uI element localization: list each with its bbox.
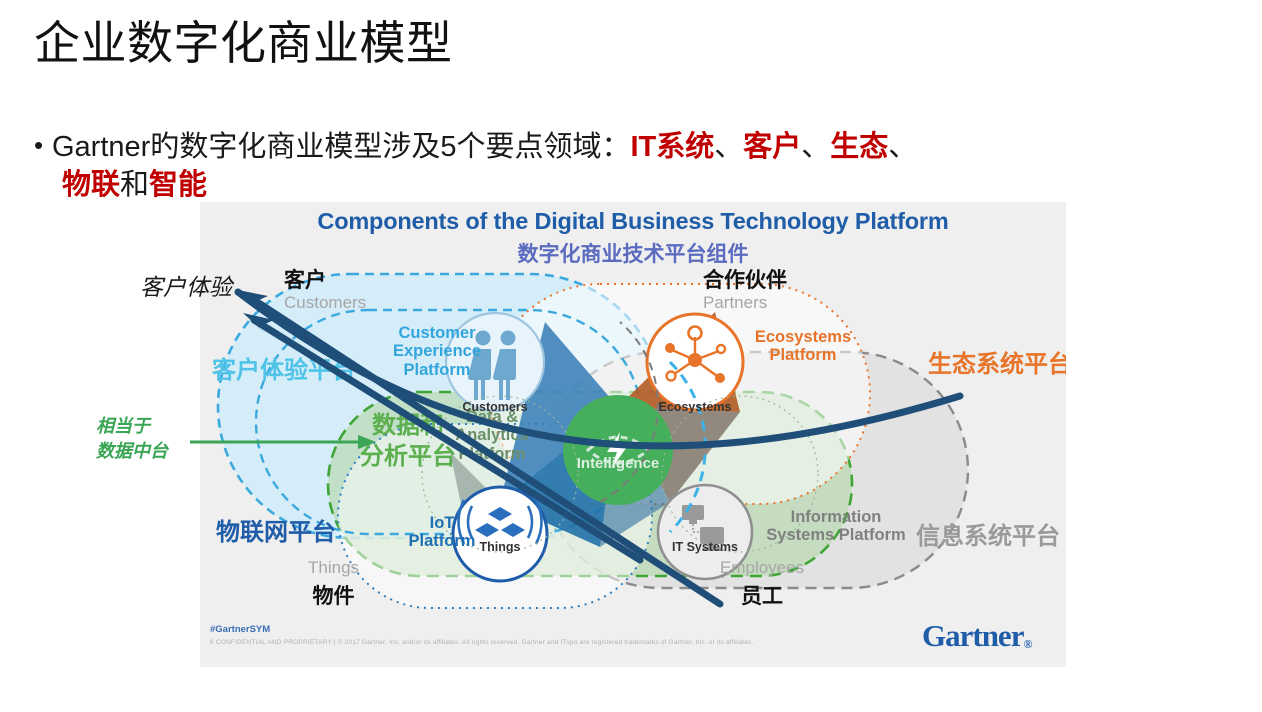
anno-eco-platform-cn: 生态系统平台 bbox=[928, 344, 1066, 379]
diagram-title-en: Components of the Digital Business Techn… bbox=[200, 208, 1066, 235]
bullet-line-2: 物联和智能 bbox=[34, 166, 1249, 204]
corner-label-partners: 合作伙伴 Partners bbox=[703, 264, 787, 313]
gartner-logo: Gartner® bbox=[922, 618, 1031, 654]
bullet-highlight-it: IT系统 bbox=[630, 131, 714, 163]
overlay-anno-dmp-line1: 相当于 bbox=[96, 416, 150, 436]
overlay-anno-data-middle-platform: 相当于 数据中台 bbox=[96, 414, 168, 464]
node-caption-things: Things bbox=[460, 540, 540, 554]
corner-things-cn: 物件 bbox=[308, 580, 359, 610]
corner-label-customers: 客户 Customers bbox=[284, 264, 366, 313]
node-caption-customers: Customers bbox=[450, 400, 540, 414]
gartner-copyright: 6 CONFIDENTIAL AND PROPRIETARY | © 2017 … bbox=[210, 639, 754, 646]
corner-label-things: Things 物件 bbox=[308, 559, 359, 610]
anno-is-platform-cn: 信息系统平台 bbox=[916, 516, 1060, 551]
bullet-sep-3: 、 bbox=[888, 131, 917, 163]
corner-customers-en: Customers bbox=[284, 293, 366, 313]
anno-iot-platform-cn: 物联网平台 bbox=[216, 512, 336, 547]
gartner-logo-reg: ® bbox=[1023, 637, 1031, 651]
overlay-anno-customer-experience: 客户体验 bbox=[140, 268, 232, 302]
gartner-hashtag: #GartnerSYM bbox=[210, 624, 270, 635]
node-caption-it-systems: IT Systems bbox=[660, 540, 750, 554]
corner-customers-cn: 客户 bbox=[284, 264, 366, 294]
bullet-text-pre: Gartner旳数字化商业模型涉及5个要点领域： bbox=[52, 131, 630, 163]
bullet-mid-he: 和 bbox=[120, 169, 149, 201]
anno-da-line2: 分析平台 bbox=[360, 443, 456, 470]
platform-label-is-en: Information Systems Platform bbox=[758, 508, 914, 545]
bullet-highlight-customer: 客户 bbox=[743, 131, 801, 163]
anno-cx-platform-cn: 客户体验平台 bbox=[212, 350, 356, 385]
platform-label-eco-en: Ecosystems Platform bbox=[748, 328, 858, 365]
anno-da-platform-cn: 数据和 分析平台 bbox=[360, 410, 456, 472]
bullet-marker: • bbox=[34, 126, 52, 164]
corner-employees-en: Employees bbox=[720, 558, 804, 578]
corner-employees-cn: 员工 bbox=[720, 580, 804, 610]
bullet-highlight-eco: 生态 bbox=[830, 131, 888, 163]
gartner-logo-text: Gartner bbox=[922, 618, 1023, 653]
platform-label-cx-en: Customer Experience Platform bbox=[383, 324, 491, 379]
corner-partners-en: Partners bbox=[703, 293, 787, 313]
corner-partners-cn: 合作伙伴 bbox=[703, 264, 787, 294]
corner-things-en: Things bbox=[308, 558, 359, 578]
bullet-highlight-intelligence: 智能 bbox=[149, 169, 207, 201]
corner-label-employees: Employees 员工 bbox=[720, 559, 804, 610]
page-title: 企业数字化商业模型 bbox=[34, 14, 453, 72]
slide-canvas: 企业数字化商业模型 •Gartner旳数字化商业模型涉及5个要点领域：IT系统、… bbox=[0, 0, 1262, 712]
bullet-line-1: •Gartner旳数字化商业模型涉及5个要点领域：IT系统、客户、生态、 bbox=[34, 126, 1249, 166]
bullet-highlight-iot: 物联 bbox=[62, 169, 120, 201]
node-caption-intelligence: Intelligence bbox=[563, 455, 673, 472]
bullet-block: •Gartner旳数字化商业模型涉及5个要点领域：IT系统、客户、生态、 物联和… bbox=[34, 126, 1249, 204]
anno-da-line1: 数据和 bbox=[372, 412, 444, 439]
gartner-diagram: Components of the Digital Business Techn… bbox=[200, 202, 1066, 667]
bullet-sep-1: 、 bbox=[714, 131, 743, 163]
node-caption-ecosystems: Ecosystems bbox=[650, 400, 740, 414]
overlay-anno-dmp-line2: 数据中台 bbox=[96, 441, 168, 461]
bullet-sep-2: 、 bbox=[801, 131, 830, 163]
